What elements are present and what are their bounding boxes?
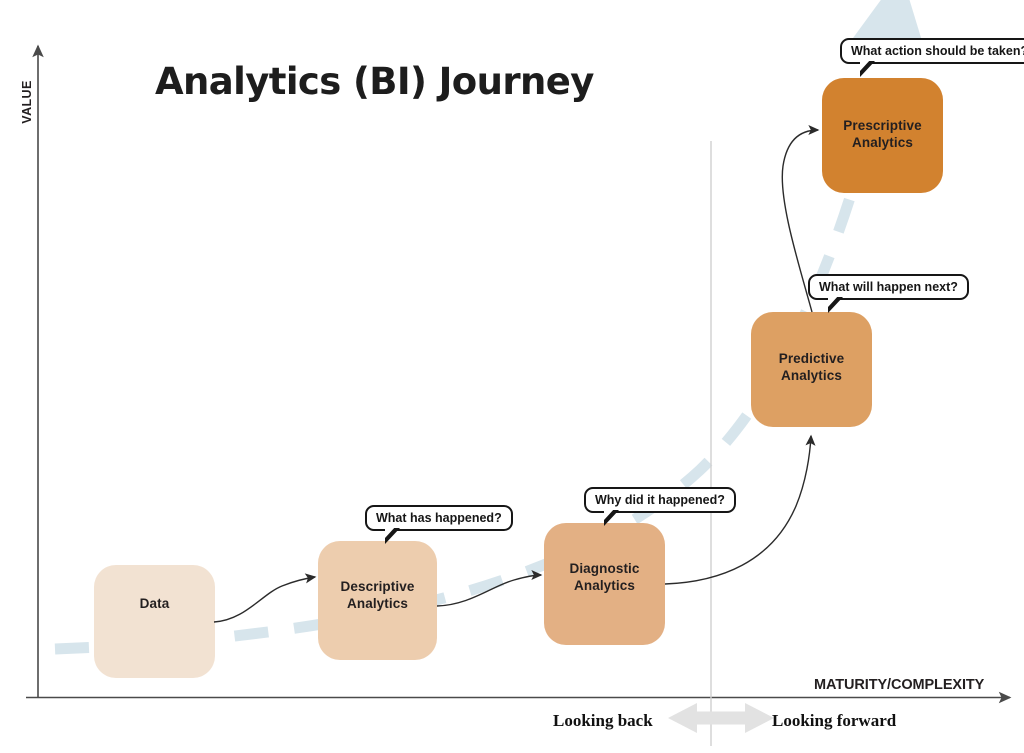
speech-bubble-prescriptive: What action should be taken? — [840, 38, 1024, 64]
bubble-tail-icon — [828, 297, 843, 313]
speech-bubble-predictive-text: What will happen next? — [819, 280, 958, 294]
speech-bubble-descriptive: What has happened? — [365, 505, 513, 531]
speech-bubble-prescriptive-text: What action should be taken? — [851, 44, 1024, 58]
x-axis-label: MATURITY/COMPLEXITY — [814, 677, 984, 693]
connector-descriptive-to-diagnostic — [437, 575, 541, 606]
bubble-tail-icon — [604, 510, 619, 526]
bubble-tail-icon — [385, 528, 400, 544]
connector-data-to-descriptive — [214, 577, 315, 622]
connector-arrow-layer — [0, 0, 1024, 753]
y-axis-label: VALUE — [20, 72, 34, 132]
page-title: Analytics (BI) Journey — [155, 60, 594, 103]
speech-bubble-diagnostic-text: Why did it happened? — [595, 493, 725, 507]
bubble-tail-icon — [860, 61, 875, 77]
speech-bubble-predictive: What will happen next? — [808, 274, 969, 300]
looking-back-label: Looking back — [553, 711, 653, 731]
diagram-canvas: Data Descriptive Analytics Diagnostic An… — [0, 0, 1024, 753]
looking-forward-label: Looking forward — [772, 711, 896, 731]
speech-bubble-diagnostic: Why did it happened? — [584, 487, 736, 513]
speech-bubble-descriptive-text: What has happened? — [376, 511, 502, 525]
